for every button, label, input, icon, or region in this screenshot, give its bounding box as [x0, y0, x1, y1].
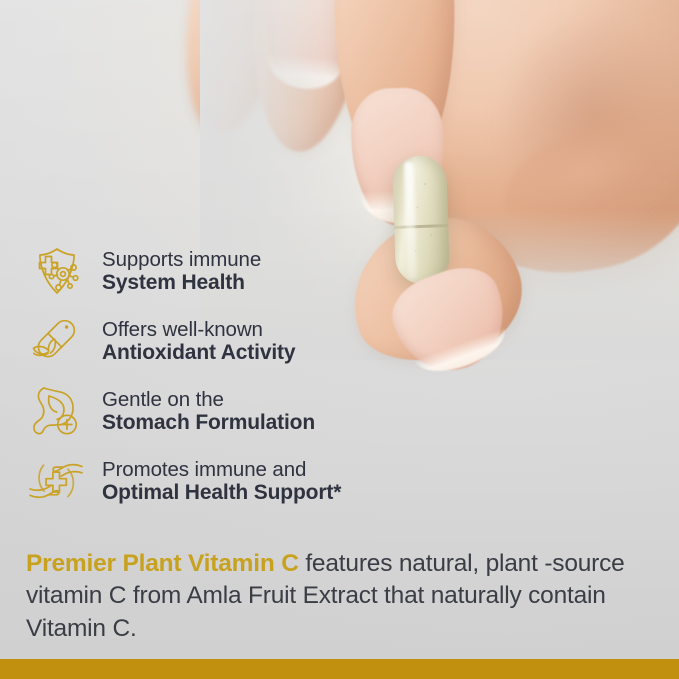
- feature-line-2: System Health: [102, 271, 261, 295]
- capsule-leaf-icon: [24, 310, 88, 372]
- footer-gold-bar: [0, 659, 679, 679]
- feature-text: Gentle on the Stomach Formulation: [102, 388, 315, 435]
- stomach-plus-icon: [24, 380, 88, 442]
- capsule-texture: [392, 155, 450, 285]
- feature-line-1: Supports immune: [102, 248, 261, 271]
- feature-line-1: Promotes immune and: [102, 458, 341, 481]
- shield-virus-icon: [24, 240, 88, 302]
- feature-text: Promotes immune and Optimal Health Suppo…: [102, 458, 341, 505]
- feature-row: Gentle on the Stomach Formulation: [24, 376, 424, 446]
- brand-name: Premier Plant Vitamin C: [26, 550, 299, 577]
- feature-line-2: Optimal Health Support*: [102, 481, 341, 505]
- feature-line-1: Gentle on the: [102, 388, 315, 411]
- feature-line-2: Stomach Formulation: [102, 411, 315, 435]
- green-vitamin-capsule: [392, 155, 450, 285]
- feature-line-1: Offers well-known: [102, 318, 295, 341]
- feature-line-2: Antioxidant Activity: [102, 341, 295, 365]
- feature-text: Offers well-known Antioxidant Activity: [102, 318, 295, 365]
- product-infographic: Supports immune System Health Offers wel…: [0, 0, 679, 679]
- feature-text: Supports immune System Health: [102, 248, 261, 295]
- product-description: Premier Plant Vitamin C features natural…: [26, 548, 656, 645]
- feature-row: Promotes immune and Optimal Health Suppo…: [24, 446, 424, 516]
- caring-hands-cross-icon: [24, 450, 88, 512]
